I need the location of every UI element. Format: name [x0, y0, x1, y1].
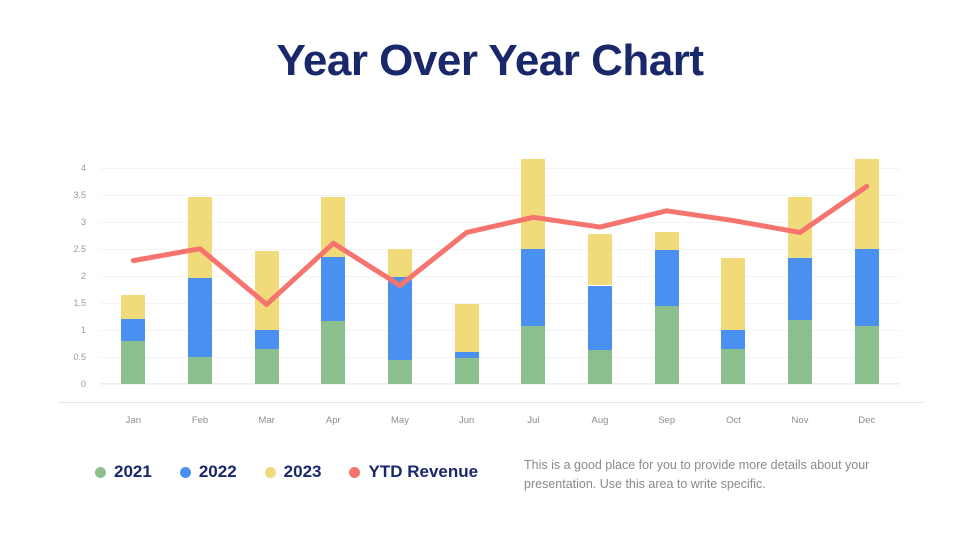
bar-column [100, 154, 167, 384]
x-axis-tick-label: Feb [192, 415, 208, 426]
legend-dot-icon [95, 467, 106, 478]
bar-segment-2022 [655, 250, 679, 305]
bar-segment-2023 [188, 197, 212, 278]
bar-segment-2023 [855, 159, 879, 248]
bar-segment-2021 [521, 326, 545, 384]
bar-column [767, 154, 834, 384]
y-axis-tick-label: 0 [46, 379, 86, 389]
x-axis-tick-label: Mar [258, 415, 274, 426]
bar-column [233, 154, 300, 384]
bar-column [167, 154, 234, 384]
bar-segment-2022 [455, 352, 479, 358]
bar-segment-2022 [188, 278, 212, 356]
legend-dot-icon [180, 467, 191, 478]
bar-segment-2022 [388, 277, 412, 359]
x-axis-tick-label: Sep [658, 415, 675, 426]
legend-label: 2021 [114, 462, 152, 482]
x-axis-tick-label: Nov [792, 415, 809, 426]
x-axis-tick-label: Aug [592, 415, 609, 426]
bar-segment-2021 [655, 306, 679, 384]
bar-segment-2023 [321, 197, 345, 257]
plot-area: 00.511.522.533.54 [100, 154, 900, 384]
bar-segment-2022 [121, 319, 145, 341]
y-axis-tick-label: 2 [46, 271, 86, 281]
legend-item-ytd-revenue[interactable]: YTD Revenue [349, 462, 478, 482]
bar-segment-2023 [455, 304, 479, 351]
x-axis-tick-label: Jan [126, 415, 141, 426]
legend-label: 2023 [284, 462, 322, 482]
bar-segment-2023 [255, 251, 279, 329]
bar-segment-2023 [121, 295, 145, 319]
x-axis-tick-label: Dec [858, 415, 875, 426]
bar-segment-2022 [255, 330, 279, 349]
y-axis-tick-label: 3.5 [46, 190, 86, 200]
bar-column [367, 154, 434, 384]
x-axis-tick-label: Jul [527, 415, 539, 426]
bar-column [633, 154, 700, 384]
bar-segment-2021 [721, 349, 745, 384]
chart-legend: 202120222023YTD Revenue [95, 462, 478, 482]
bar-segment-2022 [855, 249, 879, 326]
bar-column [433, 154, 500, 384]
legend-dot-icon [349, 467, 360, 478]
bar-segment-2022 [521, 249, 545, 326]
page-title: Year Over Year Chart [0, 36, 980, 86]
legend-item-2021[interactable]: 2021 [95, 462, 152, 482]
bar-segment-2022 [321, 257, 345, 321]
bar-column [567, 154, 634, 384]
bar-segment-2022 [588, 286, 612, 351]
bar-segment-2021 [121, 341, 145, 384]
bar-series-group [100, 154, 900, 384]
y-axis-tick-label: 2.5 [46, 244, 86, 254]
bar-segment-2023 [721, 258, 745, 330]
year-over-year-chart: 00.511.522.533.54 JanFebMarAprMayJunJulA… [0, 140, 980, 445]
bar-segment-2021 [788, 320, 812, 384]
x-axis-labels: JanFebMarAprMayJunJulAugSepOctNovDec [100, 415, 900, 435]
bar-segment-2023 [521, 159, 545, 248]
x-axis-tick-label: Jun [459, 415, 474, 426]
x-axis-tick-label: May [391, 415, 409, 426]
y-axis-tick-label: 4 [46, 163, 86, 173]
y-axis-tick-label: 0.5 [46, 352, 86, 362]
bar-segment-2021 [188, 357, 212, 384]
bar-segment-2021 [321, 321, 345, 384]
bar-segment-2021 [588, 350, 612, 384]
bar-segment-2023 [388, 249, 412, 278]
y-axis-tick-label: 1.5 [46, 298, 86, 308]
bar-segment-2023 [655, 232, 679, 250]
legend-item-2023[interactable]: 2023 [265, 462, 322, 482]
legend-label: YTD Revenue [368, 462, 478, 482]
bar-segment-2022 [788, 258, 812, 320]
legend-label: 2022 [199, 462, 237, 482]
slide-canvas: Year Over Year Chart 00.511.522.533.54 J… [0, 0, 980, 551]
legend-item-2022[interactable]: 2022 [180, 462, 237, 482]
bar-segment-2021 [455, 358, 479, 384]
y-axis-tick-label: 3 [46, 217, 86, 227]
gridline [100, 384, 900, 385]
bar-segment-2021 [388, 360, 412, 384]
bar-column [833, 154, 900, 384]
bar-segment-2023 [588, 234, 612, 286]
x-axis-tick-label: Apr [326, 415, 341, 426]
bar-segment-2023 [788, 197, 812, 258]
bar-column [500, 154, 567, 384]
x-axis-rule [58, 402, 924, 403]
bar-segment-2022 [721, 330, 745, 349]
y-axis-tick-label: 1 [46, 325, 86, 335]
legend-dot-icon [265, 467, 276, 478]
description-text: This is a good place for you to provide … [524, 456, 884, 495]
bar-segment-2021 [255, 349, 279, 384]
x-axis-tick-label: Oct [726, 415, 741, 426]
bar-column [300, 154, 367, 384]
bar-segment-2021 [855, 326, 879, 384]
bar-column [700, 154, 767, 384]
